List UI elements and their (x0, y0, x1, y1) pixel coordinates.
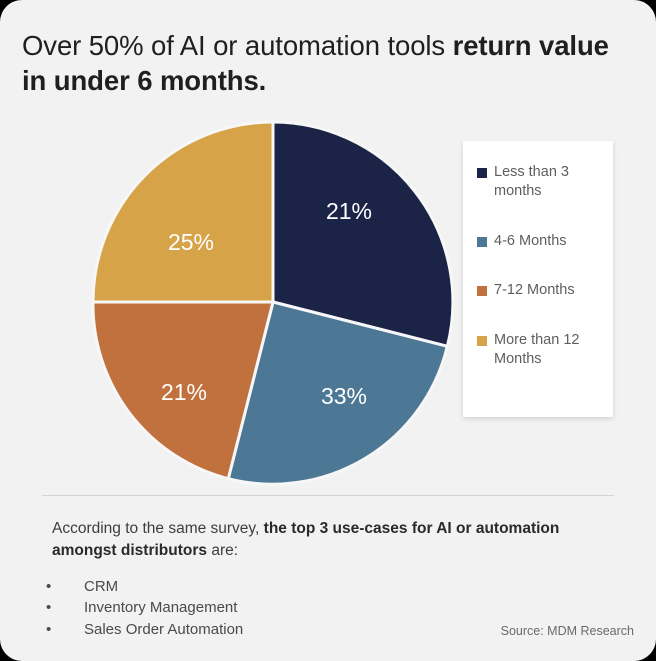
source-attribution: Source: MDM Research (501, 624, 634, 638)
legend-item-7-12-months[interactable]: 7-12 Months (477, 281, 601, 300)
chart-legend: Less than 3 months 4-6 Months 7-12 Month… (463, 141, 613, 417)
infographic-card: Over 50% of AI or automation tools retur… (0, 0, 656, 661)
legend-swatch-icon (477, 168, 487, 178)
legend-label: 7-12 Months (494, 281, 575, 300)
use-case-list: CRM Inventory Management Sales Order Aut… (46, 576, 466, 640)
pie-label-less-than-3-months: 21% (326, 198, 372, 224)
legend-swatch-icon (477, 286, 487, 296)
chart-area: 21% 33% 21% 25% Less than 3 months 4-6 M… (0, 105, 656, 495)
footer-note-normal-1: According to the same survey, (52, 520, 264, 537)
section-divider (42, 495, 614, 496)
pie-label-7-12-months: 21% (161, 379, 207, 405)
pie-slice-more-than-12-months[interactable] (93, 122, 273, 302)
legend-item-4-6-months[interactable]: 4-6 Months (477, 232, 601, 251)
pie-label-more-than-12-months: 25% (168, 229, 214, 255)
legend-swatch-icon (477, 336, 487, 346)
footer-note-normal-2: are: (211, 542, 238, 559)
list-item: CRM (46, 576, 466, 597)
legend-swatch-icon (477, 237, 487, 247)
legend-label: 4-6 Months (494, 232, 567, 251)
legend-item-less-than-3-months[interactable]: Less than 3 months (477, 163, 601, 202)
title-normal-text: Over 50% of AI or automation tools (22, 30, 453, 61)
legend-label: More than 12 Months (494, 331, 601, 370)
pie-label-4-6-months: 33% (321, 383, 367, 409)
legend-label: Less than 3 months (494, 163, 601, 202)
page-title: Over 50% of AI or automation tools retur… (22, 28, 638, 98)
legend-item-more-than-12-months[interactable]: More than 12 Months (477, 331, 601, 370)
list-item: Sales Order Automation (46, 619, 466, 640)
list-item: Inventory Management (46, 597, 466, 618)
pie-chart: 21% 33% 21% 25% (88, 117, 458, 487)
footer-note: According to the same survey, the top 3 … (52, 518, 592, 563)
